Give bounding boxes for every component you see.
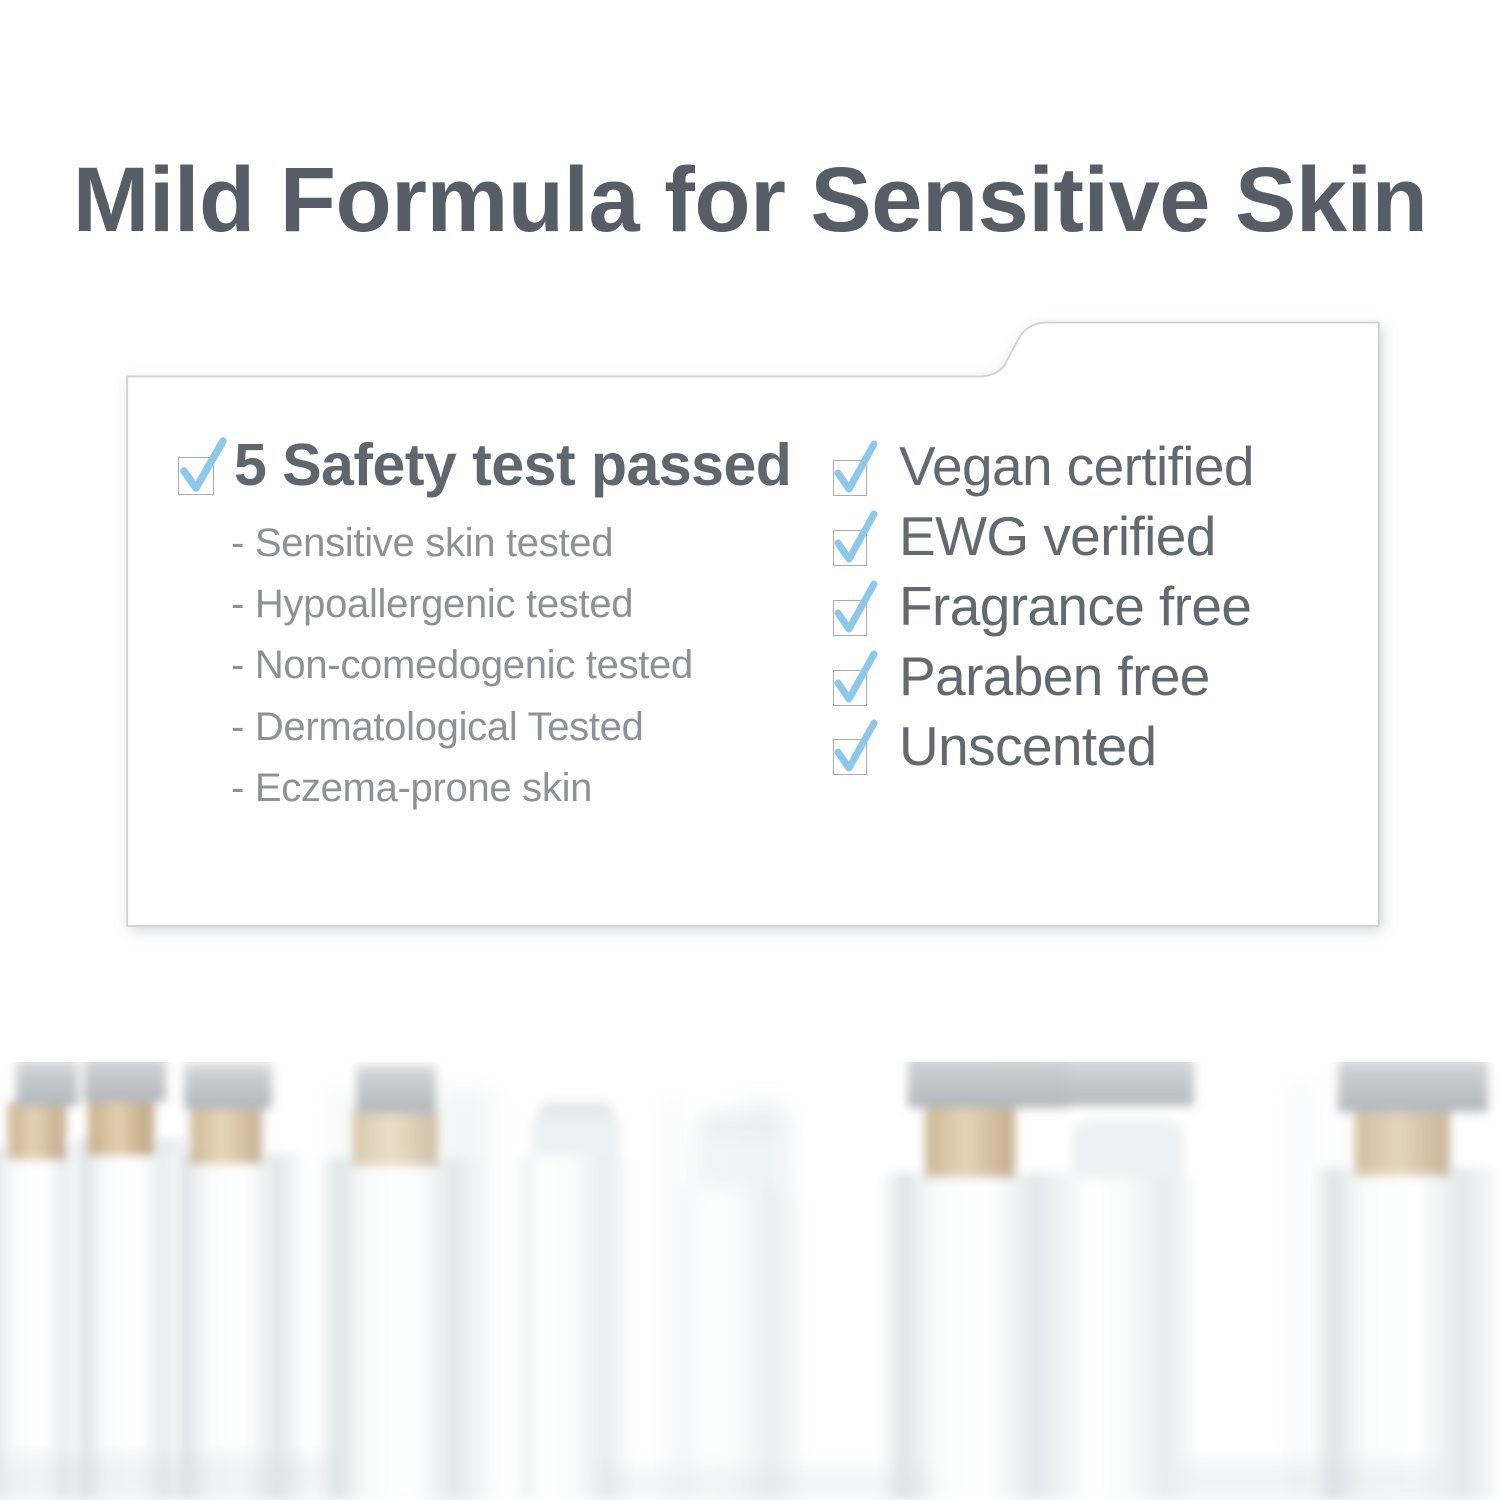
- safety-test-heading: 5 Safety test passed: [176, 436, 836, 495]
- page-title: Mild Formula for Sensitive Skin: [0, 148, 1500, 253]
- feature-unscented: Unscented: [831, 714, 1371, 779]
- checkbox-checked-icon: [831, 721, 879, 775]
- feature-paraben-free: Paraben free: [831, 644, 1371, 709]
- feature-label: Paraben free: [899, 644, 1210, 709]
- checkbox-checked-icon: [831, 652, 879, 706]
- feature-label: EWG verified: [899, 504, 1216, 569]
- safety-test-sublist: - Sensitive skin tested - Hypoallergenic…: [231, 513, 836, 819]
- feature-label: Vegan certified: [899, 434, 1254, 499]
- feature-label: Fragrance free: [899, 574, 1251, 639]
- checkbox-checked-icon: [831, 442, 879, 496]
- feature-label: Unscented: [899, 714, 1157, 779]
- right-column: Vegan certified EWG verified: [831, 434, 1371, 783]
- list-item: - Eczema-prone skin: [231, 758, 836, 819]
- list-item: - Sensitive skin tested: [231, 513, 836, 574]
- list-item: - Non-comedogenic tested: [231, 635, 836, 696]
- checkbox-checked-icon: [176, 439, 228, 495]
- list-item: - Hypoallergenic tested: [231, 574, 836, 635]
- checkbox-checked-icon: [831, 512, 879, 566]
- glass-bottles-photo: [0, 1028, 1500, 1500]
- features-card: 5 Safety test passed - Sensitive skin te…: [126, 316, 1380, 928]
- list-item: - Dermatological Tested: [231, 697, 836, 758]
- safety-test-label: 5 Safety test passed: [234, 436, 791, 495]
- feature-vegan-certified: Vegan certified: [831, 434, 1371, 499]
- checkbox-checked-icon: [831, 582, 879, 636]
- feature-fragrance-free: Fragrance free: [831, 574, 1371, 639]
- feature-ewg-verified: EWG verified: [831, 504, 1371, 569]
- left-column: 5 Safety test passed - Sensitive skin te…: [176, 436, 836, 819]
